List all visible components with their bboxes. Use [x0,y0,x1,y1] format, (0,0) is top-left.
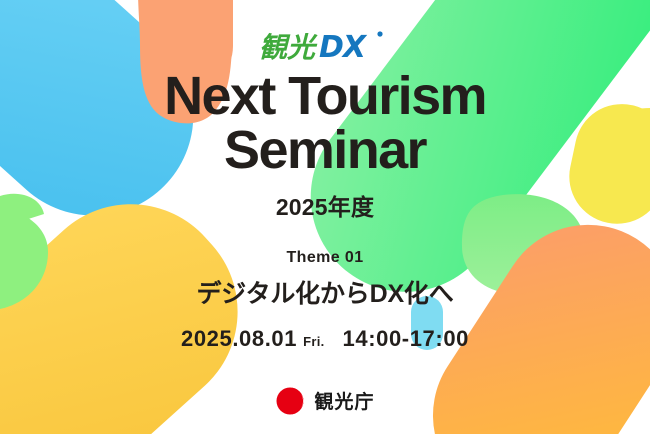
title-line-1: Next Tourism [164,70,486,122]
schedule: 2025.08.01 Fri. 14:00-17:00 [181,326,469,352]
logo-kanji: 観光 [259,31,318,64]
logo-dot-icon [377,31,382,36]
fiscal-year: 2025年度 [276,188,374,222]
theme-title: デジタル化からDX化へ [196,274,453,310]
schedule-date: 2025.08.01 [181,326,297,352]
theme-block: Theme 01 デジタル化からDX化へ [196,249,453,310]
japan-tourism-agency-mark-icon [275,386,305,416]
page-title: Next Tourism Seminar [164,70,486,177]
schedule-day: Fri. [303,334,324,349]
title-line-2: Seminar [164,124,486,176]
schedule-time: 14:00-17:00 [343,326,469,352]
agency-logo: 観光庁 [275,386,374,416]
kanko-dx-logo: 観光 DX [259,26,391,66]
agency-name: 観光庁 [314,387,374,414]
logo-latin: DX [319,30,368,65]
poster-content: 観光 DX Next Tourism Seminar 2025年度 Theme … [0,0,650,434]
kanko-dx-logo-icon: 観光 DX [259,26,391,66]
seminar-poster: 観光 DX Next Tourism Seminar 2025年度 Theme … [0,0,650,434]
theme-label: Theme 01 [196,249,453,267]
